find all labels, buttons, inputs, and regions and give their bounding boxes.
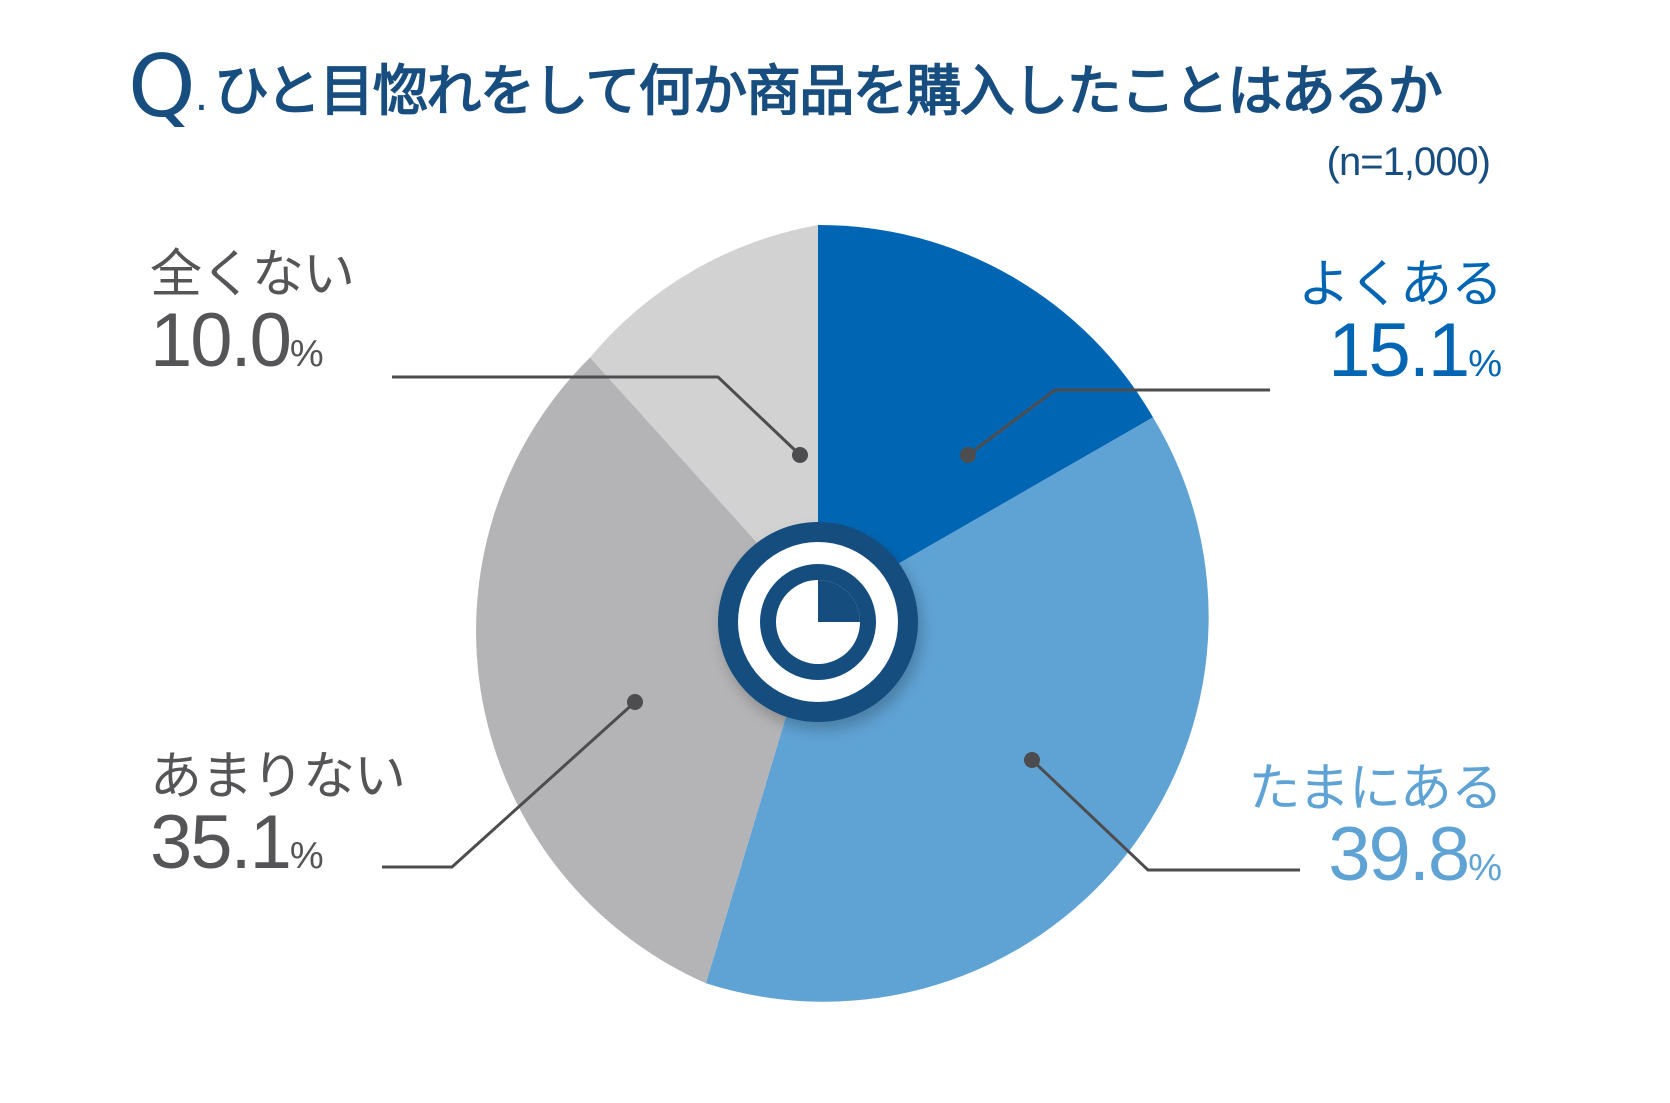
callout-number-amari-nai: 35.1 <box>150 800 290 885</box>
question-mark-dot: . <box>195 71 208 119</box>
callout-label-tamani-aru: たまにある <box>1249 762 1502 817</box>
callout-number-tamani-aru: 39.8 <box>1328 812 1468 897</box>
callout-label-yokuaru: よくある <box>1298 258 1502 313</box>
callout-tamani-aru[interactable]: たまにある 39.8% <box>1249 762 1502 893</box>
callout-value-amari-nai: 35.1% <box>150 805 405 881</box>
page-title: Q . ひと目惚れをして何か商品を購入したことはあるか <box>128 52 1441 123</box>
callout-amari-nai[interactable]: あまりない 35.1% <box>150 750 405 881</box>
callout-mattaku-nai[interactable]: 全くない 10.0% <box>150 248 354 379</box>
callout-percent-sign-yokuaru: % <box>1468 343 1502 385</box>
pie-chart: よくある 15.1% たまにある 39.8% 全くない 10.0% あまりない … <box>0 210 1670 1040</box>
callout-label-amari-nai: あまりない <box>150 750 405 805</box>
sample-size-label: (n=1,000) <box>1327 140 1490 185</box>
callout-label-mattaku-nai: 全くない <box>150 248 354 303</box>
callout-value-tamani-aru: 39.8% <box>1249 817 1502 893</box>
callout-percent-sign-amari-nai: % <box>290 835 324 877</box>
callout-percent-sign-mattaku-nai: % <box>290 333 324 375</box>
question-mark-letter: Q <box>128 52 194 123</box>
callout-value-mattaku-nai: 10.0% <box>150 303 354 379</box>
callout-number-yokuaru: 15.1 <box>1328 308 1468 393</box>
question-text: ひと目惚れをして何か商品を購入したことはあるか <box>214 64 1441 119</box>
callout-percent-sign-tamani-aru: % <box>1468 847 1502 889</box>
callout-value-yokuaru: 15.1% <box>1298 313 1502 389</box>
infographic-page: Q . ひと目惚れをして何か商品を購入したことはあるか (n=1,000) <box>0 0 1670 1103</box>
pie-chart-badge-icon <box>718 522 918 722</box>
callout-number-mattaku-nai: 10.0 <box>150 298 290 383</box>
callout-yokuaru[interactable]: よくある 15.1% <box>1298 258 1502 389</box>
